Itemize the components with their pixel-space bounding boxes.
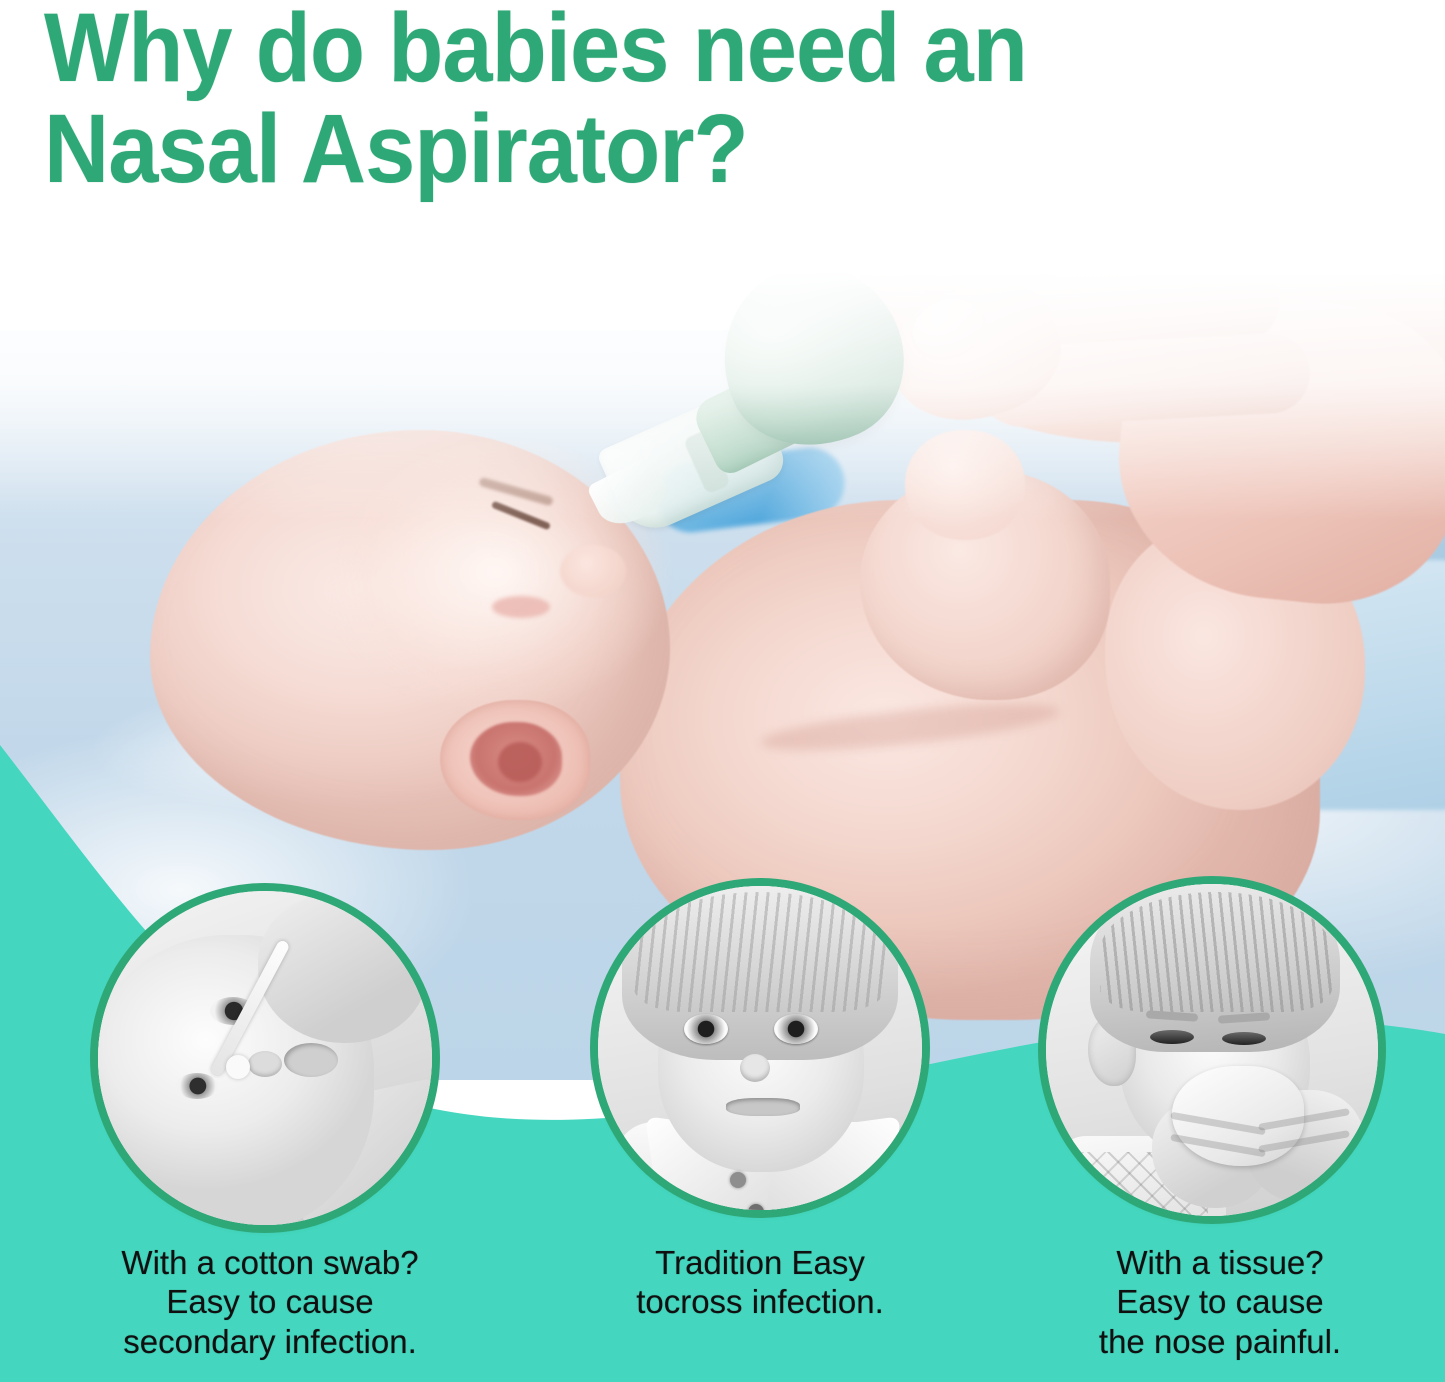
- caption-line: Easy to cause: [1000, 1282, 1440, 1321]
- caption-tissue: With a tissue? Easy to cause the nose pa…: [1000, 1243, 1440, 1361]
- caption-line: tocross infection.: [540, 1282, 980, 1321]
- product-infographic-poster: Why do babies need an Nasal Aspirator?: [0, 0, 1445, 1382]
- caption-cotton-swab: With a cotton swab? Easy to cause second…: [40, 1243, 500, 1361]
- caption-line: the nose painful.: [1000, 1322, 1440, 1361]
- panel-image-tissue: [1046, 884, 1378, 1216]
- headline-line-1: Why do babies need an: [44, 0, 1141, 99]
- caption-tradition: Tradition Easy tocross infection.: [540, 1243, 980, 1322]
- caption-line: With a cotton swab?: [40, 1243, 500, 1282]
- page-title: Why do babies need an Nasal Aspirator?: [44, 0, 1141, 200]
- caption-line: secondary infection.: [40, 1322, 500, 1361]
- panel-image-cotton-swab: [98, 891, 432, 1225]
- headline-line-2: Nasal Aspirator?: [44, 99, 1141, 200]
- panel-image-tradition: [598, 886, 922, 1210]
- caption-line: Tradition Easy: [540, 1243, 980, 1282]
- caption-line: With a tissue?: [1000, 1243, 1440, 1282]
- caption-line: Easy to cause: [40, 1282, 500, 1321]
